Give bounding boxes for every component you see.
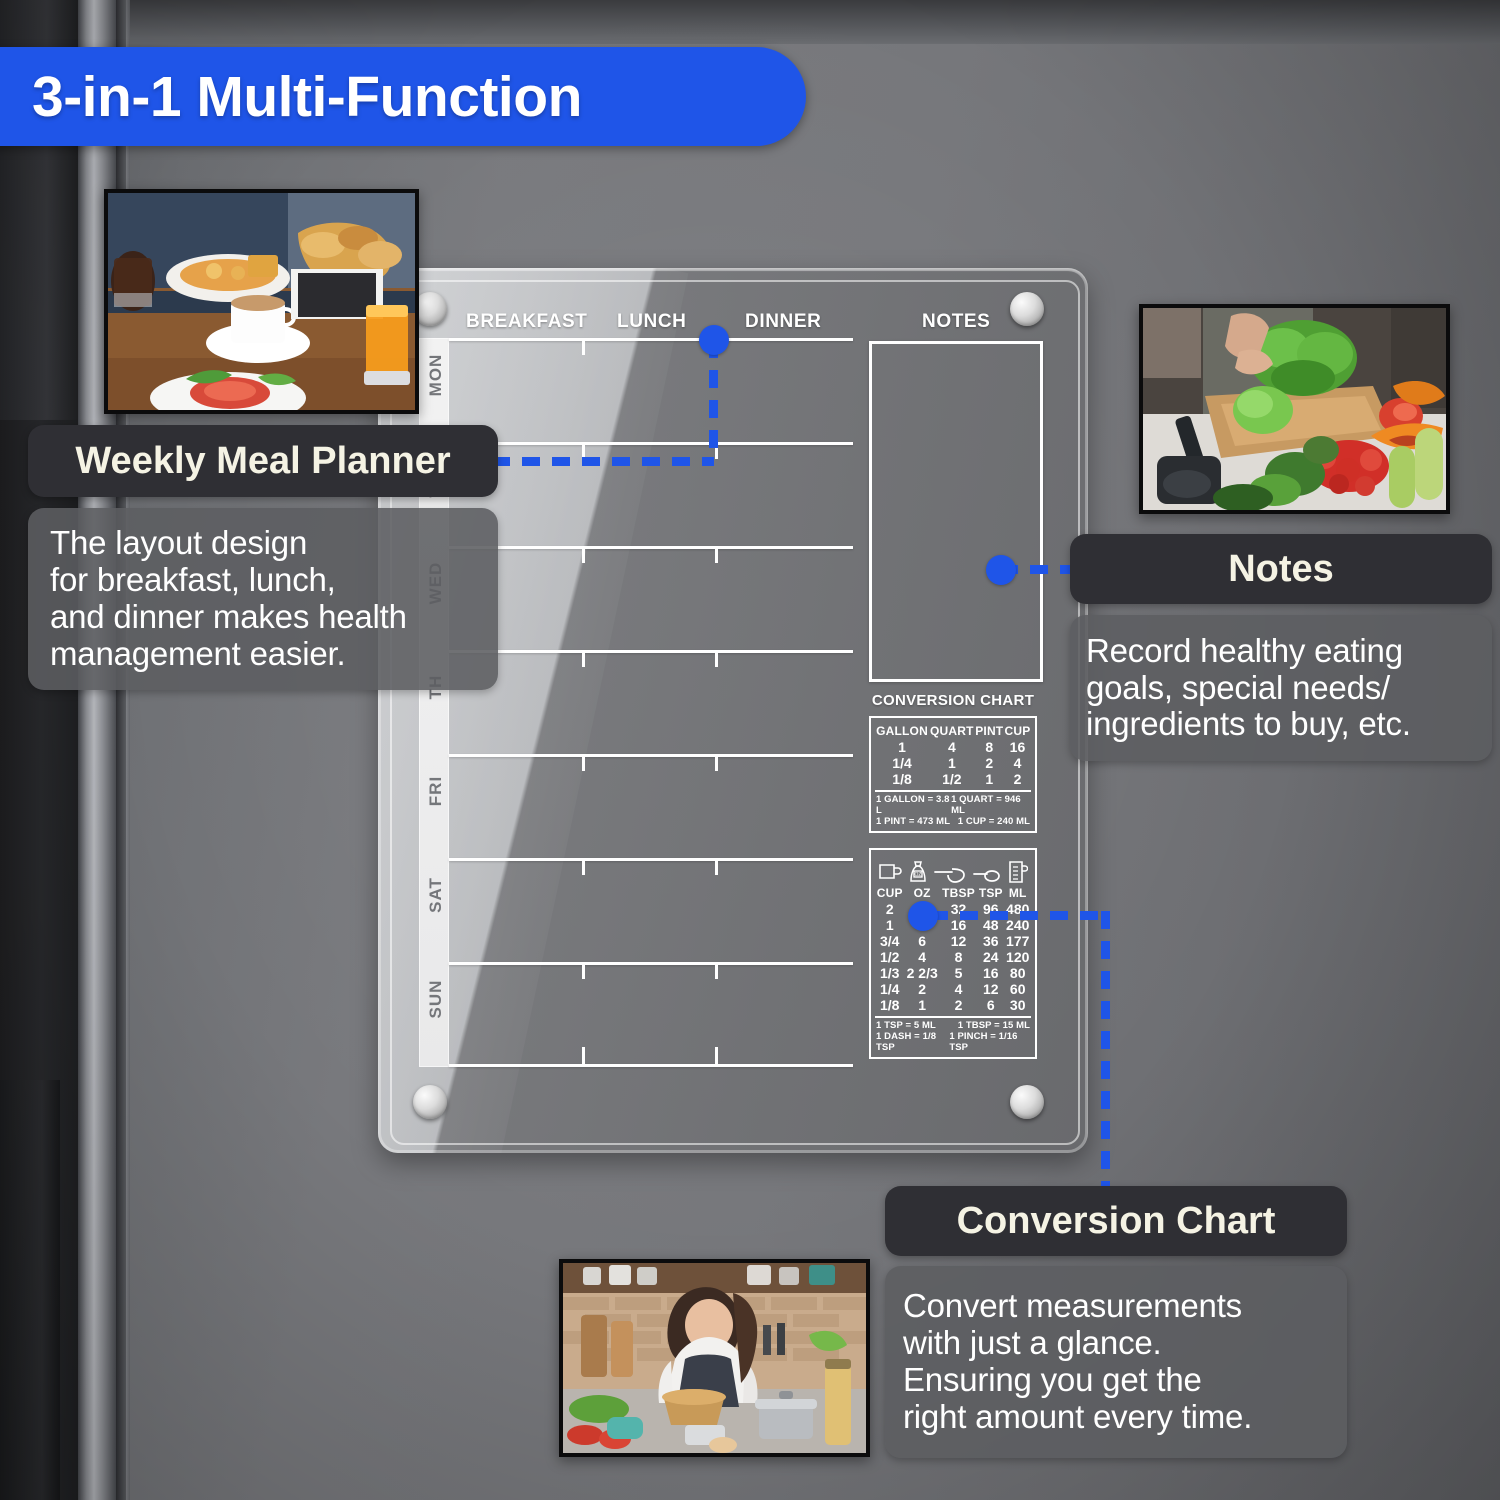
- svg-text:OZ: OZ: [914, 872, 921, 878]
- grid-tick: [715, 754, 718, 771]
- grid-tick: [715, 962, 718, 979]
- grid-tick: [582, 1047, 585, 1064]
- board-screw-bottom-right: [1010, 1085, 1044, 1119]
- callout-title-conversion-chart: Conversion Chart: [885, 1186, 1347, 1256]
- connector-dot-notes: [986, 555, 1016, 585]
- callout-body-text: Convert measurements with just a glance.…: [903, 1288, 1252, 1436]
- board-screw-bottom-left: [413, 1085, 447, 1119]
- day-label-fri: FRI: [421, 747, 451, 835]
- cc1-header: PINT: [975, 723, 1004, 739]
- cc1-footnote-row: 1 PINT = 473 ML 1 CUP = 240 ML: [875, 816, 1031, 827]
- grid-line: [449, 338, 853, 341]
- callout-title-text: Notes: [1228, 548, 1334, 591]
- column-header-notes: NOTES: [922, 311, 990, 333]
- header-title: 3-in-1 Multi-Function: [32, 64, 582, 130]
- conversion-icon-row: OZ: [875, 854, 1031, 884]
- cc1-row: 1/4 1 2 4: [875, 755, 1031, 771]
- connector-meal-planner-vertical: [709, 340, 718, 460]
- connector-dot-conversion: [908, 901, 938, 931]
- cc2-header: TBSP: [940, 885, 977, 901]
- day-label-sat: SAT: [421, 851, 451, 939]
- grid-tick: [715, 650, 718, 667]
- conversion-table-small-volume: OZ CUP OZ TBSP TSP ML: [869, 848, 1037, 1059]
- cc2-row: 1/4 2 4 12 60: [875, 981, 1031, 997]
- woman-cooking-kitchen-photo: [559, 1259, 870, 1457]
- grid-line: [449, 962, 853, 965]
- grid-tick: [715, 858, 718, 875]
- board-screw-top-right: [1010, 292, 1044, 326]
- connector-conversion-horizontal: [930, 911, 1110, 920]
- grid-tick: [715, 1047, 718, 1064]
- product-feature-image: 3-in-1 Multi-Function BREAKFAST LUNCH DI…: [0, 0, 1500, 1500]
- vegetables-cutting-board-photo: [1139, 304, 1450, 514]
- cc1-footnote-row: 1 GALLON = 3.8 L 1 QUART = 946 ML: [875, 794, 1031, 816]
- callout-title-text: Conversion Chart: [957, 1200, 1276, 1243]
- cc1-header: QUART: [929, 723, 975, 739]
- callout-title-text: Weekly Meal Planner: [75, 440, 450, 483]
- cc2-row: 1/3 2 2/3 5 16 80: [875, 965, 1031, 981]
- grid-tick: [582, 338, 585, 355]
- divider: [875, 1016, 1031, 1018]
- connector-conversion-vertical: [1101, 911, 1110, 1201]
- grid-line: [449, 546, 853, 549]
- breakfast-table-photo: [104, 189, 419, 414]
- cc2-header: TSP: [977, 885, 1004, 901]
- cc2-header: ML: [1004, 885, 1031, 901]
- cc2-header: CUP: [875, 885, 904, 901]
- cc2-row: 1/8 1 2 6 30: [875, 997, 1031, 1013]
- callout-title-notes: Notes: [1070, 534, 1492, 604]
- callout-body-weekly-meal-planner: The layout design for breakfast, lunch, …: [28, 508, 498, 690]
- measuring-jug-icon: [1006, 860, 1028, 884]
- teaspoon-icon: [973, 868, 1001, 884]
- column-header-lunch: LUNCH: [617, 311, 687, 333]
- divider: [875, 790, 1031, 792]
- conversion-table-volume: GALLON QUART PINT CUP 1 4 8 16 1/4 1 2 4…: [869, 716, 1037, 833]
- notes-writing-area[interactable]: [869, 341, 1043, 682]
- day-label-mon: MON: [421, 331, 451, 419]
- day-label-sun: SUN: [421, 955, 451, 1043]
- grid-line: [449, 1064, 853, 1067]
- conversion-chart-title: CONVERSION CHART: [869, 692, 1037, 709]
- grid-tick: [582, 858, 585, 875]
- callout-title-weekly-meal-planner: Weekly Meal Planner: [28, 425, 498, 497]
- grid-line: [449, 858, 853, 861]
- callout-body-text: The layout design for breakfast, lunch, …: [50, 525, 407, 673]
- grid-tick: [582, 962, 585, 979]
- grid-tick: [582, 754, 585, 771]
- column-header-breakfast: BREAKFAST: [466, 311, 588, 333]
- grid-tick: [582, 546, 585, 563]
- connector-meal-planner-horizontal: [492, 457, 714, 466]
- cc2-footnote-row: 1 TSP = 5 ML 1 TBSP = 15 ML: [875, 1020, 1031, 1031]
- cc2-row: 1/2 4 8 24 120: [875, 949, 1031, 965]
- connector-dot-meal-planner: [699, 325, 729, 355]
- cc1-header: CUP: [1004, 723, 1031, 739]
- grid-tick: [715, 546, 718, 563]
- cc1-header: GALLON: [875, 723, 929, 739]
- meal-planner-grid: [449, 338, 853, 1067]
- callout-body-text: Record healthy eating goals, special nee…: [1086, 633, 1411, 744]
- callout-body-notes: Record healthy eating goals, special nee…: [1070, 615, 1492, 761]
- vegetables-photo-art: [1143, 308, 1446, 510]
- cc2-header: OZ: [904, 885, 939, 901]
- header-banner: 3-in-1 Multi-Function: [0, 47, 806, 146]
- cc2-footnote-row: 1 DASH = 1/8 TSP 1 PINCH = 1/16 TSP: [875, 1031, 1031, 1053]
- cc1-row: 1/8 1/2 1 2: [875, 771, 1031, 787]
- grid-line: [449, 754, 853, 757]
- grid-line: [449, 442, 853, 445]
- callout-body-conversion-chart: Convert measurements with just a glance.…: [885, 1266, 1347, 1458]
- cc1-row: 1 4 8 16: [875, 739, 1031, 755]
- cc2-row: 3/4 6 12 36 177: [875, 933, 1031, 949]
- cup-icon: [878, 862, 902, 884]
- oz-scale-icon: OZ: [907, 860, 929, 884]
- cooking-photo-art: [563, 1263, 866, 1453]
- grid-tick: [582, 650, 585, 667]
- grid-line: [449, 650, 853, 653]
- column-header-dinner: DINNER: [745, 311, 821, 333]
- breakfast-photo-art: [108, 193, 415, 410]
- tablespoon-icon: [934, 866, 968, 884]
